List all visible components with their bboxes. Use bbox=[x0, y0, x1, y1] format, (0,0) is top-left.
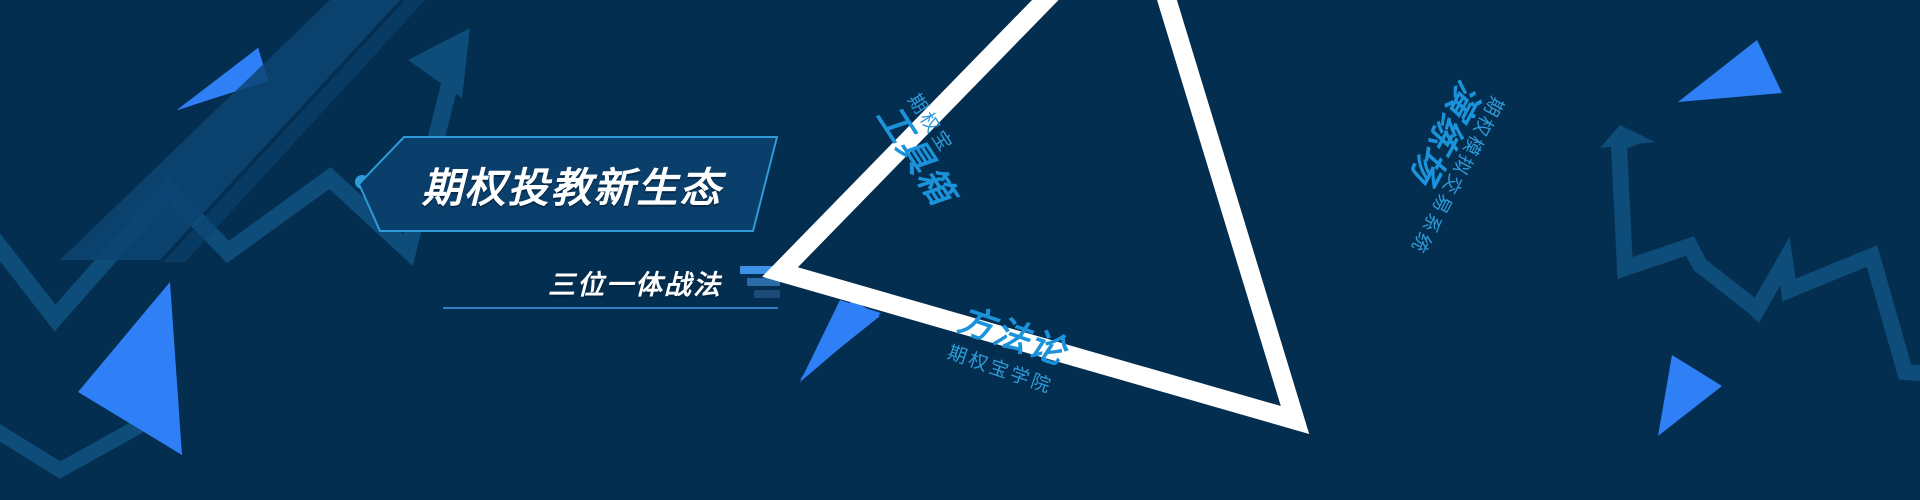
triangle-diagram bbox=[0, 0, 1920, 500]
promo-banner: 期权投教新生态 三位一体战法 期权宝 工具箱 期权模拟交易系统 演练场 方法论 … bbox=[0, 0, 1920, 500]
